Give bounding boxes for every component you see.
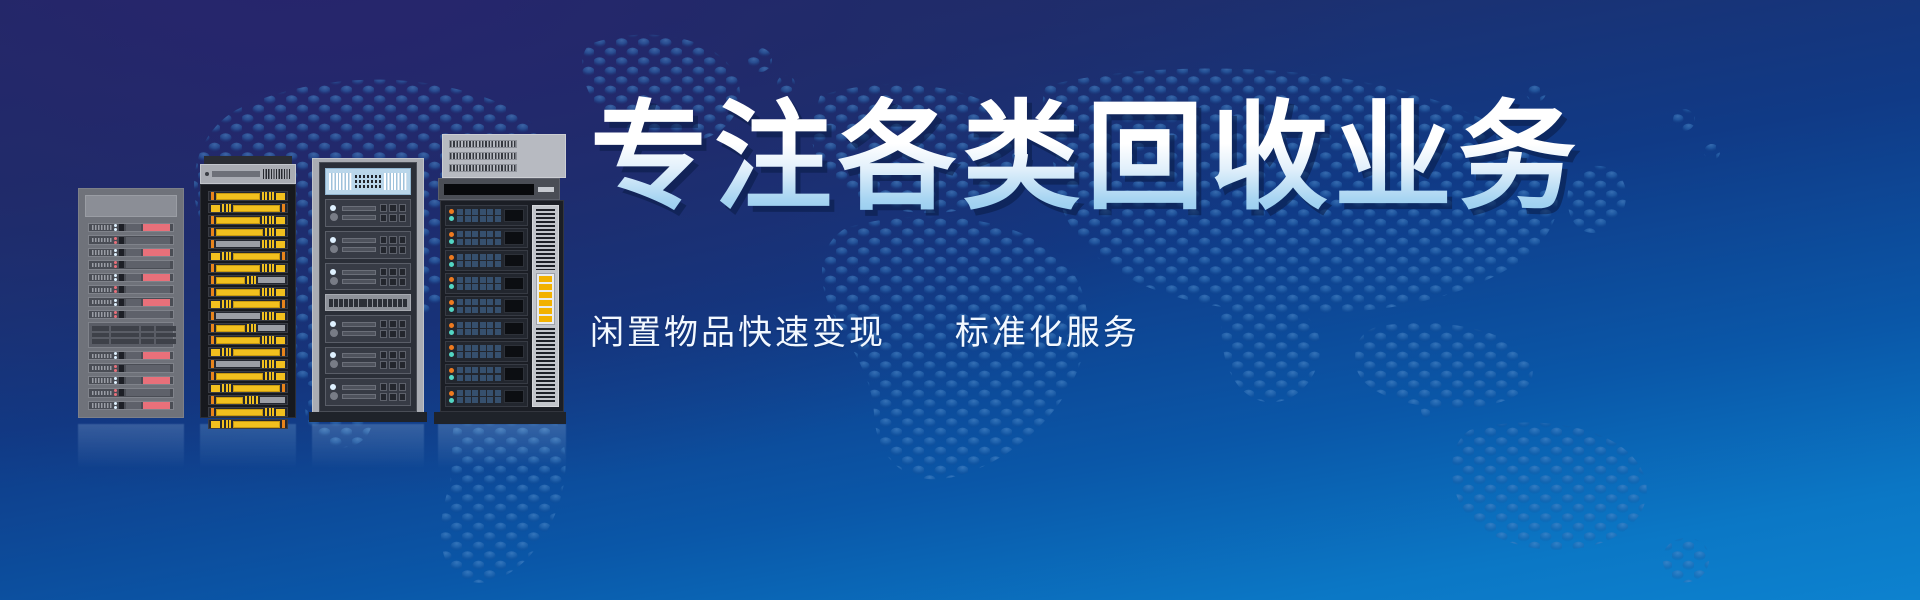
- server-racks-illustration: [60, 140, 620, 480]
- banner-headline: 专注各类回收业务: [590, 96, 1880, 221]
- promo-banner: 专注各类回收业务 闲置物品快速变现 标准化服务: [0, 0, 1920, 600]
- rack-3-reflection: [312, 424, 424, 480]
- tall-led-server-rack-icon: [438, 134, 566, 424]
- blade-server-rack-icon: [312, 158, 424, 422]
- gray-server-rack-icon: [78, 188, 184, 418]
- rack-2-reflection: [200, 424, 296, 480]
- banner-text-block: 专注各类回收业务 闲置物品快速变现 标准化服务: [590, 96, 1880, 354]
- banner-subtitle: 闲置物品快速变现 标准化服务: [590, 305, 1880, 354]
- black-gold-server-rack-icon: [200, 156, 296, 418]
- banner-subtitle-phrase-1: 闲置物品快速变现: [590, 314, 886, 352]
- rack-4-reflection: [438, 424, 566, 480]
- banner-subtitle-phrase-2: 标准化服务: [955, 314, 1140, 352]
- rack-1-reflection: [78, 424, 184, 480]
